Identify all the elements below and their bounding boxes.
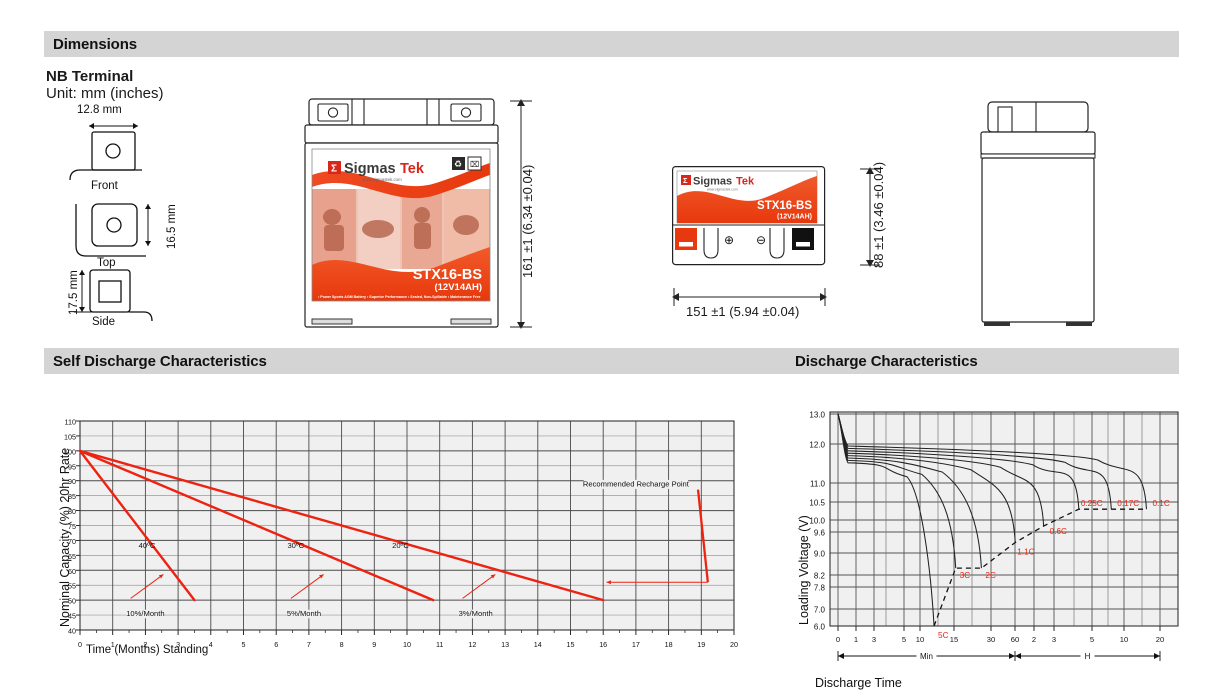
svg-text:7.0: 7.0 [814, 605, 826, 614]
svg-text:0.6C: 0.6C [1050, 527, 1067, 536]
svg-text:20: 20 [1156, 635, 1164, 644]
svg-text:110: 110 [65, 418, 76, 427]
svg-text:16: 16 [599, 640, 607, 649]
svg-text:10%/Month: 10%/Month [126, 609, 164, 618]
svg-text:10.5: 10.5 [809, 498, 825, 507]
terminal-top-depth-label: 16.5 mm [166, 204, 178, 249]
svg-text:⊖: ⊖ [756, 233, 766, 247]
terminal-drawings: 12.8 mm Front Top Side 16.5 mm 17.5 mm [46, 108, 236, 333]
svg-text:5: 5 [1090, 635, 1094, 644]
svg-text:Recommended Recharge Point: Recommended Recharge Point [583, 480, 690, 489]
svg-text:3: 3 [1052, 635, 1056, 644]
svg-text:7: 7 [307, 640, 311, 649]
svg-text:9.6: 9.6 [814, 528, 826, 537]
terminal-top-label: Top [97, 257, 116, 269]
svg-text:Σ: Σ [683, 176, 688, 185]
terminal-top-view [76, 204, 151, 256]
svg-text:14: 14 [534, 640, 542, 649]
svg-text:4: 4 [209, 640, 213, 649]
svg-text:(12V14AH): (12V14AH) [434, 282, 482, 293]
terminal-front-view [70, 123, 142, 180]
svg-text:105: 105 [64, 432, 76, 441]
svg-text:17: 17 [632, 640, 640, 649]
svg-text:www.sigmastek.com: www.sigmastek.com [362, 177, 402, 182]
self-discharge-chart: 4045505560657075808590951001051100123456… [44, 405, 744, 655]
svg-text:(12V14AH): (12V14AH) [777, 214, 812, 221]
svg-text:40: 40 [68, 627, 76, 636]
svg-text:Tek: Tek [736, 176, 755, 188]
svg-text:0.17C: 0.17C [1117, 499, 1139, 508]
svg-text:19: 19 [697, 640, 705, 649]
discharge-ylabel: Loading Voltage (V) [797, 515, 811, 625]
battery-top-view: Σ Sigmas Tek www.sigmastek.com STX16-BS … [672, 166, 850, 281]
svg-text:15: 15 [950, 635, 958, 644]
self-discharge-ylabel: Nominal Capacity (%) 20hr Rate [58, 448, 72, 627]
svg-text:10: 10 [403, 640, 411, 649]
svg-text:13: 13 [501, 640, 509, 649]
svg-text:20: 20 [730, 640, 738, 649]
svg-text:10: 10 [1120, 635, 1128, 644]
section-header-self-discharge: Self Discharge Characteristics [44, 348, 786, 374]
terminal-side-height-label: 17.5 mm [68, 270, 80, 315]
svg-text:• Power Sports AGM Battery •: • Power Sports AGM Battery • Superior Pe… [318, 295, 480, 299]
svg-text:2: 2 [1032, 635, 1036, 644]
svg-text:6.0: 6.0 [814, 622, 826, 631]
svg-text:9: 9 [372, 640, 376, 649]
svg-text:5: 5 [242, 640, 246, 649]
svg-text:STX16-BS: STX16-BS [757, 200, 812, 212]
section-title-dimensions: Dimensions [53, 36, 137, 53]
svg-text:7.8: 7.8 [814, 583, 826, 592]
svg-text:STX16-BS: STX16-BS [413, 267, 483, 283]
svg-text:11.0: 11.0 [810, 479, 826, 488]
svg-text:3: 3 [872, 635, 876, 644]
discharge-xlabel: Discharge Time [815, 676, 902, 690]
self-discharge-xlabel: Time (Months) Standing [86, 644, 208, 656]
svg-text:www.sigmastek.com: www.sigmastek.com [707, 188, 738, 192]
battery-front-view: Σ Sigmas Tek www.sigmastek.com ♻ ⌧ STX16… [296, 97, 506, 329]
battery-width-dimension-label: 151 ±1 (5.94 ±0.04) [686, 304, 799, 319]
svg-text:Σ: Σ [331, 164, 337, 175]
svg-text:5C: 5C [938, 631, 949, 640]
terminal-side-view [74, 270, 152, 321]
svg-text:5%/Month: 5%/Month [287, 609, 321, 618]
terminal-front-label: Front [91, 180, 118, 192]
svg-text:3C: 3C [960, 571, 971, 580]
section-title-self-discharge: Self Discharge Characteristics [53, 353, 267, 370]
svg-text:30ºC: 30ºC [287, 541, 304, 550]
svg-text:40ºC: 40ºC [139, 541, 156, 550]
svg-text:10: 10 [916, 635, 924, 644]
svg-text:0.1C: 0.1C [1152, 499, 1169, 508]
svg-text:Sigmas: Sigmas [344, 161, 396, 177]
section-header-discharge: Discharge Characteristics [786, 348, 1179, 374]
battery-height-dimension-label: 161 ±1 (6.34 ±0.04) [520, 165, 535, 278]
svg-text:30: 30 [987, 635, 995, 644]
battery-depth-dimension-label: 88 ±1 (3.46 ±0.04) [871, 162, 886, 268]
svg-text:Sigmas: Sigmas [693, 176, 732, 188]
svg-text:Tek: Tek [400, 161, 425, 177]
svg-text:♻: ♻ [454, 159, 462, 169]
svg-text:3%/Month: 3%/Month [459, 609, 493, 618]
svg-text:5: 5 [902, 635, 906, 644]
svg-text:0.25C: 0.25C [1081, 499, 1103, 508]
unit-label: Unit: mm (inches) [46, 85, 164, 102]
svg-text:11: 11 [436, 640, 443, 649]
battery-side-profile-view [978, 100, 1098, 330]
svg-text:12: 12 [468, 640, 476, 649]
svg-text:0: 0 [836, 635, 840, 644]
terminal-width-label: 12.8 mm [77, 104, 122, 116]
svg-text:10.0: 10.0 [809, 516, 825, 525]
svg-text:60: 60 [1011, 635, 1019, 644]
svg-text:⊕: ⊕ [724, 233, 734, 247]
svg-text:2C: 2C [985, 571, 996, 580]
nb-terminal-title: NB Terminal [46, 68, 133, 85]
svg-text:0: 0 [78, 640, 82, 649]
discharge-chart: 6.07.07.88.29.09.610.010.511.012.013.001… [786, 398, 1186, 663]
svg-text:1: 1 [854, 635, 858, 644]
section-title-discharge: Discharge Characteristics [795, 353, 978, 370]
svg-text:8.2: 8.2 [814, 571, 826, 580]
svg-text:6: 6 [274, 640, 278, 649]
svg-text:8: 8 [340, 640, 344, 649]
svg-text:12.0: 12.0 [809, 440, 825, 449]
section-header-dimensions: Dimensions [44, 31, 1179, 57]
svg-text:20ºC: 20ºC [392, 541, 409, 550]
terminal-side-label: Side [92, 316, 115, 328]
svg-text:1.1C: 1.1C [1017, 548, 1034, 557]
svg-text:18: 18 [665, 640, 673, 649]
svg-text:Min: Min [920, 652, 933, 661]
svg-text:9.0: 9.0 [814, 549, 826, 558]
svg-text:15: 15 [567, 640, 575, 649]
svg-text:⌧: ⌧ [470, 160, 479, 169]
svg-text:H: H [1085, 652, 1091, 661]
svg-text:13.0: 13.0 [809, 410, 825, 419]
